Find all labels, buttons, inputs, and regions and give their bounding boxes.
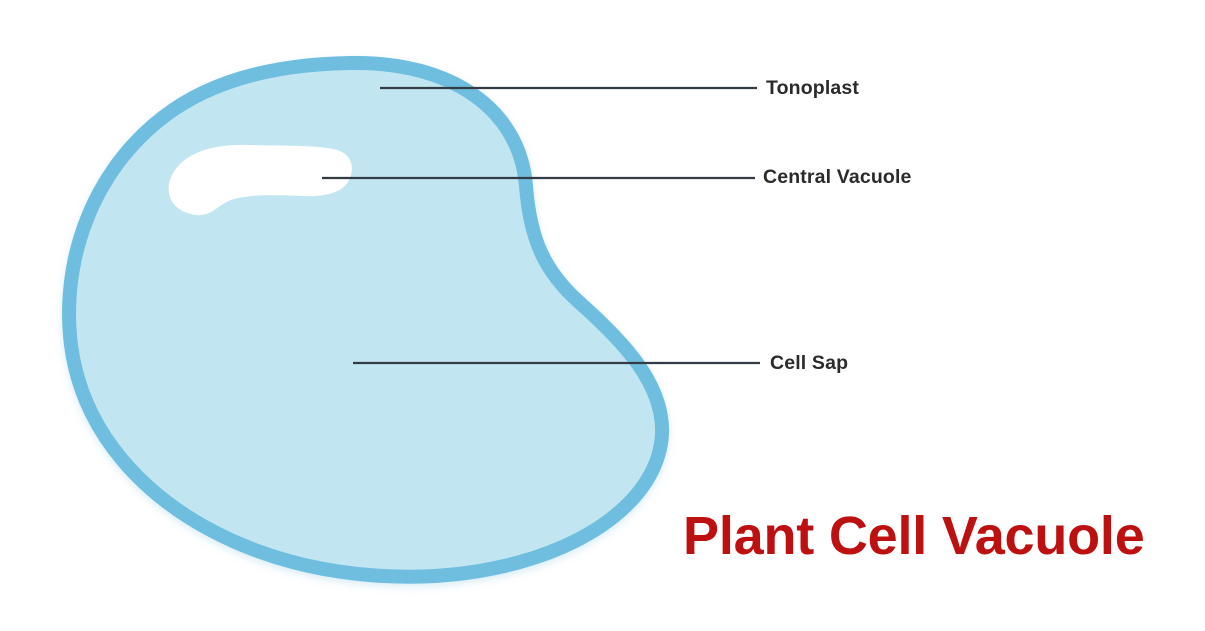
label-cell-sap: Cell Sap (770, 354, 848, 374)
diagram-title: Plant Cell Vacuole (683, 509, 1145, 563)
label-tonoplast: Tonoplast (766, 79, 859, 99)
vacuole-body-group (69, 63, 662, 577)
vacuole-body-shape (69, 63, 662, 577)
label-central-vacuole: Central Vacuole (763, 168, 912, 188)
diagram-canvas: Tonoplast Central Vacuole Cell Sap Plant… (0, 0, 1205, 631)
